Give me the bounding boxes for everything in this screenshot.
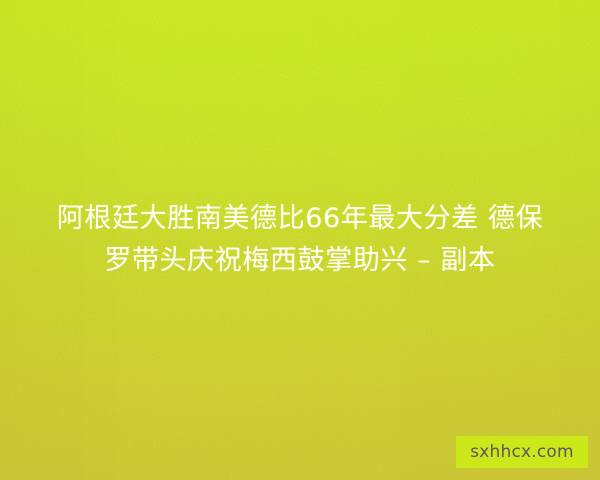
headline-line-1: 阿根廷大胜南美德比66年最大分差 德保 [57,198,543,240]
watermark-badge: sxhhcx.com [456,436,588,468]
thumbnail-image: 阿根廷大胜南美德比66年最大分差 德保 罗带头庆祝梅西鼓掌助兴 – 副本 sxh… [0,0,600,480]
headline-block: 阿根廷大胜南美德比66年最大分差 德保 罗带头庆祝梅西鼓掌助兴 – 副本 [0,0,600,480]
headline-line-2: 罗带头庆祝梅西鼓掌助兴 – 副本 [104,240,495,282]
watermark-text: sxhhcx.com [470,444,574,461]
